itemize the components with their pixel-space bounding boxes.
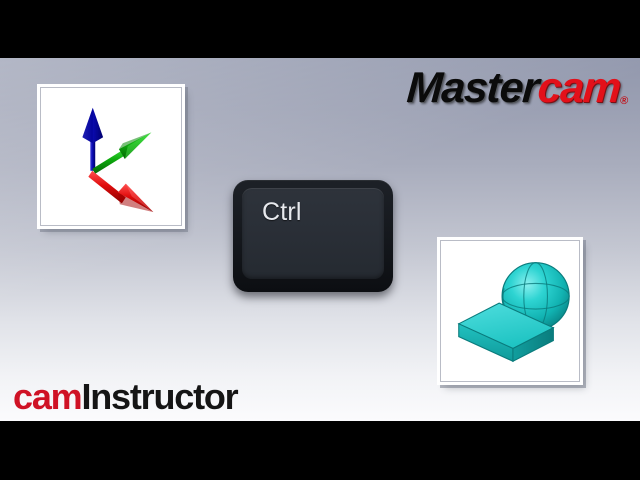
caminstructor-logo-cam-text: cam (13, 376, 81, 417)
mastercam-logo-master-text: Master (405, 67, 539, 110)
letterbox-top (0, 0, 640, 58)
caminstructor-logo: camInstructor (13, 379, 237, 415)
letterbox-bottom (0, 421, 640, 480)
solid-shapes-image-frame (440, 240, 580, 382)
solid-shapes-icon (441, 241, 579, 381)
video-frame: Mastercam® (0, 0, 640, 480)
ctrl-key-cap: Ctrl (242, 188, 384, 279)
mastercam-logo: Mastercam® (405, 67, 630, 110)
ctrl-key-label: Ctrl (262, 200, 302, 225)
axis-gnomon-icon (41, 88, 181, 225)
mastercam-logo-cam-text: cam (536, 67, 621, 110)
caminstructor-logo-instructor-text: Instructor (81, 376, 237, 417)
ctrl-key[interactable]: Ctrl (233, 180, 393, 292)
registered-trademark-icon: ® (620, 96, 629, 107)
axis-gnomon-image-frame (40, 87, 182, 226)
slide-canvas: Mastercam® (0, 58, 640, 421)
